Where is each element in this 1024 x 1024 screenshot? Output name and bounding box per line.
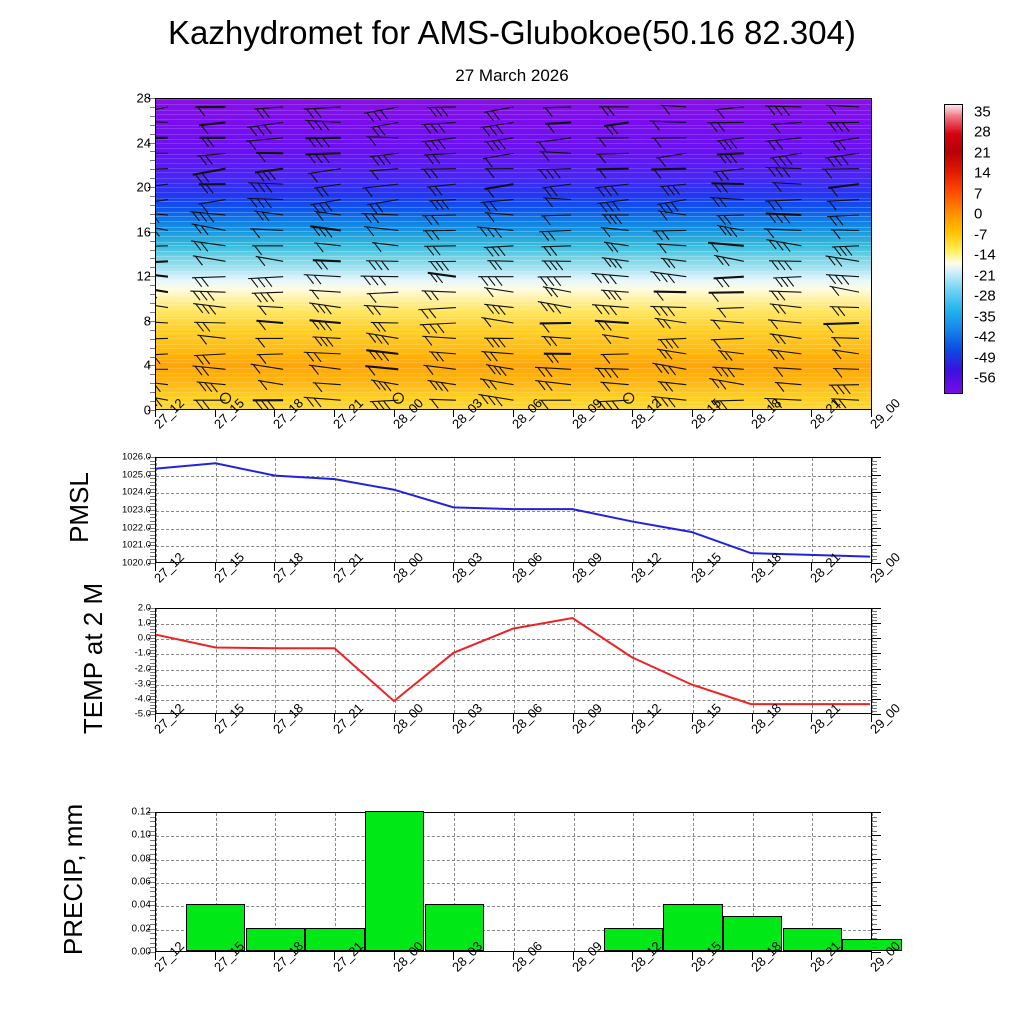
y-minor-tick-right (872, 542, 877, 543)
wind-barb (711, 183, 743, 192)
y-minor-tick (150, 672, 155, 673)
y-axis-label: 0 (97, 403, 151, 418)
wind-barb (717, 138, 744, 150)
y-minor-tick (150, 608, 155, 609)
y-minor-tick (150, 663, 155, 664)
y-minor-tick-right (872, 845, 877, 846)
wind-barb (657, 244, 686, 253)
wind-barb (596, 153, 628, 163)
wind-barb (535, 367, 571, 377)
page-title: Kazhydromet for AMS-Glubokoe(50.16 82.30… (0, 14, 1024, 52)
y-axis-label: 1023.0 (97, 505, 151, 516)
y-minor-tick (150, 687, 155, 688)
y-minor-tick-right (872, 938, 877, 939)
wind-barb (156, 200, 168, 213)
wind-barb (831, 230, 859, 239)
wind-barb (192, 366, 225, 376)
y-minor-tick-right (872, 882, 881, 883)
wind-barb (543, 198, 571, 207)
y-axis-label: 0.00 (97, 947, 151, 958)
y-minor-tick (150, 905, 155, 906)
wind-barb (770, 304, 802, 314)
wind-barb (252, 246, 283, 255)
y-minor-tick (150, 623, 155, 624)
y-minor-tick (150, 647, 155, 648)
wind-barb (601, 228, 629, 237)
wind-barb (651, 169, 686, 179)
y-minor-tick-right (872, 524, 877, 525)
wind-barb (478, 277, 513, 286)
wind-barb (372, 243, 398, 252)
wind-barb (370, 153, 399, 165)
wind-barb (422, 291, 456, 300)
wind-barb (600, 382, 628, 391)
y-minor-tick (150, 517, 155, 518)
y-minor-tick-right (872, 632, 877, 633)
y-axis-label: 1025.0 (97, 469, 151, 480)
y-minor-tick (150, 681, 155, 682)
wind-barb (602, 258, 629, 269)
y-axis-label: 0.12 (97, 807, 151, 818)
wind-barb (708, 243, 744, 252)
wind-barb (707, 122, 744, 131)
y-minor-tick (150, 542, 155, 543)
wind-barb (421, 122, 456, 133)
y-minor-tick-right (872, 877, 877, 878)
y-minor-tick-right (872, 835, 881, 836)
y-minor-tick-right (872, 535, 877, 536)
y-minor-tick (150, 232, 155, 233)
y-minor-tick-right (872, 492, 881, 493)
wind-barb (656, 153, 686, 166)
wind-barb (822, 169, 859, 178)
y-minor-tick-right (872, 545, 881, 546)
y-minor-tick (150, 617, 155, 618)
pmsl-line-series (156, 458, 871, 564)
pmsl-axis-label: PMSL (64, 472, 95, 543)
precip-bars (156, 813, 871, 951)
y-axis-label: 28 (97, 91, 151, 106)
y-minor-tick (150, 817, 155, 818)
y-minor-tick (150, 348, 155, 349)
y-minor-tick (150, 521, 155, 522)
wind-barb (248, 183, 283, 193)
pmsl-panel (155, 457, 872, 563)
y-minor-tick-right (872, 556, 877, 557)
y-minor-tick (150, 107, 155, 108)
y-minor-tick (150, 471, 155, 472)
wind-barb (156, 261, 168, 272)
y-minor-tick (150, 877, 155, 878)
y-minor-tick (150, 492, 155, 493)
wind-barb (480, 122, 513, 136)
y-minor-tick (150, 535, 155, 536)
y-minor-tick-right (872, 868, 877, 869)
wind-barb (421, 169, 456, 178)
colorbar-tick-label: 28 (974, 124, 991, 141)
y-axis-label: -3.0 (97, 678, 151, 689)
y-minor-tick-right (872, 705, 877, 706)
y-minor-tick (150, 514, 155, 515)
y-axis-label: 1021.0 (97, 540, 151, 551)
wind-barb (831, 138, 859, 151)
y-minor-tick-right (872, 666, 877, 667)
y-minor-tick (150, 330, 155, 331)
y-minor-tick-right (872, 510, 881, 511)
y-minor-tick-right (872, 831, 877, 832)
y-axis-label: 0.10 (97, 830, 151, 841)
wind-barb (366, 137, 398, 146)
y-minor-tick (150, 947, 155, 948)
colorbar-tick-label: 21 (974, 144, 991, 161)
wind-barb (420, 323, 456, 334)
y-axis-label: 1022.0 (97, 522, 151, 533)
wind-barb (828, 184, 859, 196)
wind-barb (247, 198, 283, 208)
y-minor-tick (150, 835, 155, 836)
wind-barb (596, 138, 628, 147)
y-minor-tick (150, 863, 155, 864)
wind-barb (200, 138, 226, 147)
y-minor-tick (150, 125, 155, 126)
data-line (156, 618, 870, 704)
y-minor-tick-right (872, 647, 877, 648)
y-minor-tick-right (872, 711, 877, 712)
y-minor-tick-right (872, 559, 877, 560)
wind-barb (769, 291, 801, 300)
y-minor-tick (150, 915, 155, 916)
y-minor-tick (150, 531, 155, 532)
y-minor-tick-right (872, 947, 877, 948)
wind-barb (156, 304, 168, 313)
wind-barb (199, 184, 226, 193)
y-minor-tick (150, 545, 155, 546)
y-minor-tick (150, 499, 155, 500)
wind-barb (361, 276, 399, 285)
y-minor-tick (150, 684, 155, 685)
wind-barb (653, 230, 687, 240)
y-minor-tick-right (872, 933, 877, 934)
y-minor-tick (150, 503, 155, 504)
wind-barb (418, 308, 456, 319)
wind-barb (190, 291, 225, 300)
y-minor-tick-right (872, 690, 877, 691)
y-minor-tick (150, 294, 155, 295)
y-minor-tick-right (872, 478, 877, 479)
y-minor-tick (150, 626, 155, 627)
y-minor-tick-right (872, 653, 881, 654)
y-minor-tick (150, 383, 155, 384)
wind-barb (314, 211, 341, 220)
wind-barb (775, 382, 802, 391)
y-minor-tick-right (872, 521, 877, 522)
wind-barb (602, 215, 629, 224)
wind-barb (306, 138, 341, 147)
y-minor-tick (150, 933, 155, 934)
wind-barb (596, 169, 628, 179)
wind-barb (766, 213, 802, 223)
y-axis-label: 12 (97, 269, 151, 284)
wind-barb (595, 321, 629, 331)
wind-barb (156, 184, 168, 198)
wind-barb (718, 351, 744, 361)
y-minor-tick-right (872, 681, 877, 682)
wind-barb (156, 338, 168, 348)
y-minor-tick-right (872, 611, 877, 612)
temp-line-series (156, 609, 871, 715)
wind-barb (366, 350, 398, 361)
wind-barb-overlay (156, 99, 871, 410)
y-minor-tick (150, 868, 155, 869)
wind-barb (486, 365, 513, 376)
y-minor-tick (150, 258, 155, 259)
wind-barb (764, 229, 802, 238)
wind-barb (717, 153, 744, 163)
y-minor-tick (150, 312, 155, 313)
y-axis-label: 24 (97, 135, 151, 150)
wind-barb (190, 212, 226, 223)
y-minor-tick-right (872, 943, 877, 944)
x-axis-label: 29_00 (867, 395, 903, 431)
wind-barb (661, 105, 687, 114)
y-axis-label: -5.0 (97, 709, 151, 720)
wind-barb (592, 305, 629, 315)
y-minor-tick (150, 669, 155, 670)
wind-barb (423, 230, 456, 239)
wind-barb (429, 352, 456, 362)
wind-barb (826, 256, 859, 266)
wind-barb (366, 333, 398, 345)
y-minor-tick (150, 891, 155, 892)
wind-barb (314, 243, 341, 252)
wind-barb (252, 292, 283, 302)
wind-barb (768, 320, 801, 329)
wind-barb (542, 261, 571, 270)
y-minor-tick (150, 475, 155, 476)
y-minor-tick-right (872, 549, 877, 550)
y-axis-label: 0.04 (97, 900, 151, 911)
y-minor-tick (150, 214, 155, 215)
wind-barb (660, 184, 686, 195)
y-minor-tick-right (872, 859, 881, 860)
wind-barb (369, 169, 398, 180)
wind-barb (654, 292, 687, 301)
wind-barb (826, 105, 859, 114)
wind-barb (709, 292, 744, 302)
y-minor-tick-right (872, 891, 877, 892)
precip-axis-label: PRECIP, mm (58, 804, 89, 955)
wind-barb (717, 308, 744, 318)
y-minor-tick-right (872, 617, 877, 618)
wind-barb (713, 169, 744, 181)
y-minor-tick (150, 365, 155, 366)
y-axis-label: 0.0 (97, 633, 151, 644)
wind-barb (251, 364, 284, 373)
y-minor-tick (150, 339, 155, 340)
wind-barb (364, 305, 399, 315)
wind-barb (604, 242, 629, 252)
y-minor-tick-right (872, 656, 877, 657)
temp-panel (155, 608, 872, 714)
wind-barb (481, 352, 513, 362)
y-minor-tick-right (872, 817, 877, 818)
y-minor-tick (150, 653, 155, 654)
y-minor-tick (150, 478, 155, 479)
y-minor-tick (150, 267, 155, 268)
wind-barb (766, 167, 802, 177)
y-minor-tick-right (872, 684, 881, 685)
y-minor-tick (150, 644, 155, 645)
wind-barb (539, 230, 571, 240)
y-minor-tick (150, 849, 155, 850)
bar (365, 811, 425, 951)
wind-barb (484, 288, 514, 297)
colorbar-tick-label: -21 (974, 267, 996, 284)
wind-barb (197, 382, 226, 392)
wind-barb (538, 302, 571, 314)
wind-barb (650, 306, 686, 316)
y-minor-tick (150, 538, 155, 539)
wind-barb (313, 260, 341, 269)
y-minor-tick-right (872, 499, 877, 500)
wind-barb (541, 246, 571, 256)
y-axis-label: 0.06 (97, 877, 151, 888)
wind-barb (774, 368, 802, 377)
wind-barb (483, 153, 513, 167)
y-minor-tick (150, 223, 155, 224)
wind-barb (364, 107, 398, 122)
y-minor-tick (150, 901, 155, 902)
y-minor-tick-right (872, 471, 877, 472)
y-minor-tick (150, 303, 155, 304)
wind-barb (257, 306, 283, 315)
y-minor-tick-right (872, 496, 877, 497)
wind-barb (256, 256, 283, 265)
wind-barb (197, 335, 225, 344)
wind-barb (832, 246, 859, 256)
y-minor-tick (150, 357, 155, 358)
y-minor-tick-right (872, 873, 877, 874)
wind-barb (773, 277, 801, 287)
wind-barb (424, 246, 456, 255)
y-axis-label: 20 (97, 180, 151, 195)
wind-barb (710, 320, 743, 329)
y-minor-tick-right (872, 626, 877, 627)
y-minor-tick-right (872, 514, 877, 515)
wind-barb (484, 107, 513, 121)
y-minor-tick (150, 887, 155, 888)
wind-barb (428, 273, 456, 283)
colorbar-tick-label: -35 (974, 308, 996, 325)
wind-barb (156, 107, 168, 122)
y-minor-tick-right (872, 461, 877, 462)
y-minor-tick (150, 485, 155, 486)
y-minor-tick (150, 401, 155, 402)
wind-barb (253, 400, 283, 409)
colorbar-tick-label: -42 (974, 329, 996, 346)
wind-barb (651, 138, 686, 147)
y-minor-tick-right (872, 678, 877, 679)
wind-barb (308, 169, 341, 183)
y-minor-tick (150, 457, 155, 458)
y-minor-tick (150, 559, 155, 560)
wind-barb (424, 153, 456, 164)
y-minor-tick (150, 708, 155, 709)
y-minor-tick (150, 620, 155, 621)
wind-barb (254, 211, 283, 221)
wind-barb (156, 225, 168, 237)
wind-barb (604, 122, 629, 134)
wind-barb (193, 400, 225, 409)
y-minor-tick-right (872, 919, 877, 920)
y-minor-tick (150, 374, 155, 375)
wind-barb (257, 354, 283, 364)
wind-barb (709, 379, 744, 390)
wind-barb (658, 382, 687, 392)
y-minor-tick (150, 812, 155, 813)
y-minor-tick-right (872, 482, 877, 483)
y-minor-tick (150, 464, 155, 465)
vertical-gridline (872, 609, 873, 713)
y-minor-tick (150, 641, 155, 642)
y-minor-tick (150, 702, 155, 703)
wind-barb (481, 200, 514, 212)
wind-barb (156, 273, 168, 282)
wind-barb (485, 184, 514, 197)
y-minor-tick-right (872, 887, 877, 888)
y-minor-tick (150, 556, 155, 557)
y-axis-label: 1.0 (97, 618, 151, 629)
y-minor-tick-right (872, 635, 877, 636)
wind-barb (256, 321, 283, 330)
wind-barb (592, 273, 629, 284)
y-minor-tick-right (872, 650, 877, 651)
y-minor-tick-right (872, 659, 877, 660)
y-minor-tick (150, 924, 155, 925)
y-minor-tick (150, 632, 155, 633)
y-axis-label: 0.02 (97, 923, 151, 934)
y-minor-tick (150, 241, 155, 242)
y-minor-tick (150, 482, 155, 483)
y-minor-tick-right (872, 638, 881, 639)
y-minor-tick (150, 690, 155, 691)
wind-barb (199, 122, 225, 134)
wind-barb (484, 304, 513, 315)
y-minor-tick (150, 549, 155, 550)
y-minor-tick-right (872, 614, 877, 615)
wind-barb (827, 215, 859, 226)
wind-barb (595, 184, 629, 196)
colorbar-tick-label: 35 (974, 104, 991, 121)
y-minor-tick (150, 929, 155, 930)
wind-barb (710, 198, 744, 208)
wind-barb (544, 354, 571, 363)
wind-barb (156, 213, 168, 223)
y-minor-tick (150, 943, 155, 944)
y-minor-tick-right (872, 641, 877, 642)
y-axis-label: 4 (97, 358, 151, 373)
wind-barb (535, 381, 571, 391)
wind-barb (156, 246, 168, 255)
wind-barb (250, 229, 283, 238)
y-minor-tick-right (872, 506, 877, 507)
wind-barb (487, 261, 513, 270)
wind-barb (362, 184, 398, 197)
wind-barb (305, 120, 341, 130)
wind-barb (304, 275, 341, 285)
y-minor-tick (150, 821, 155, 822)
wind-barb (365, 366, 398, 375)
